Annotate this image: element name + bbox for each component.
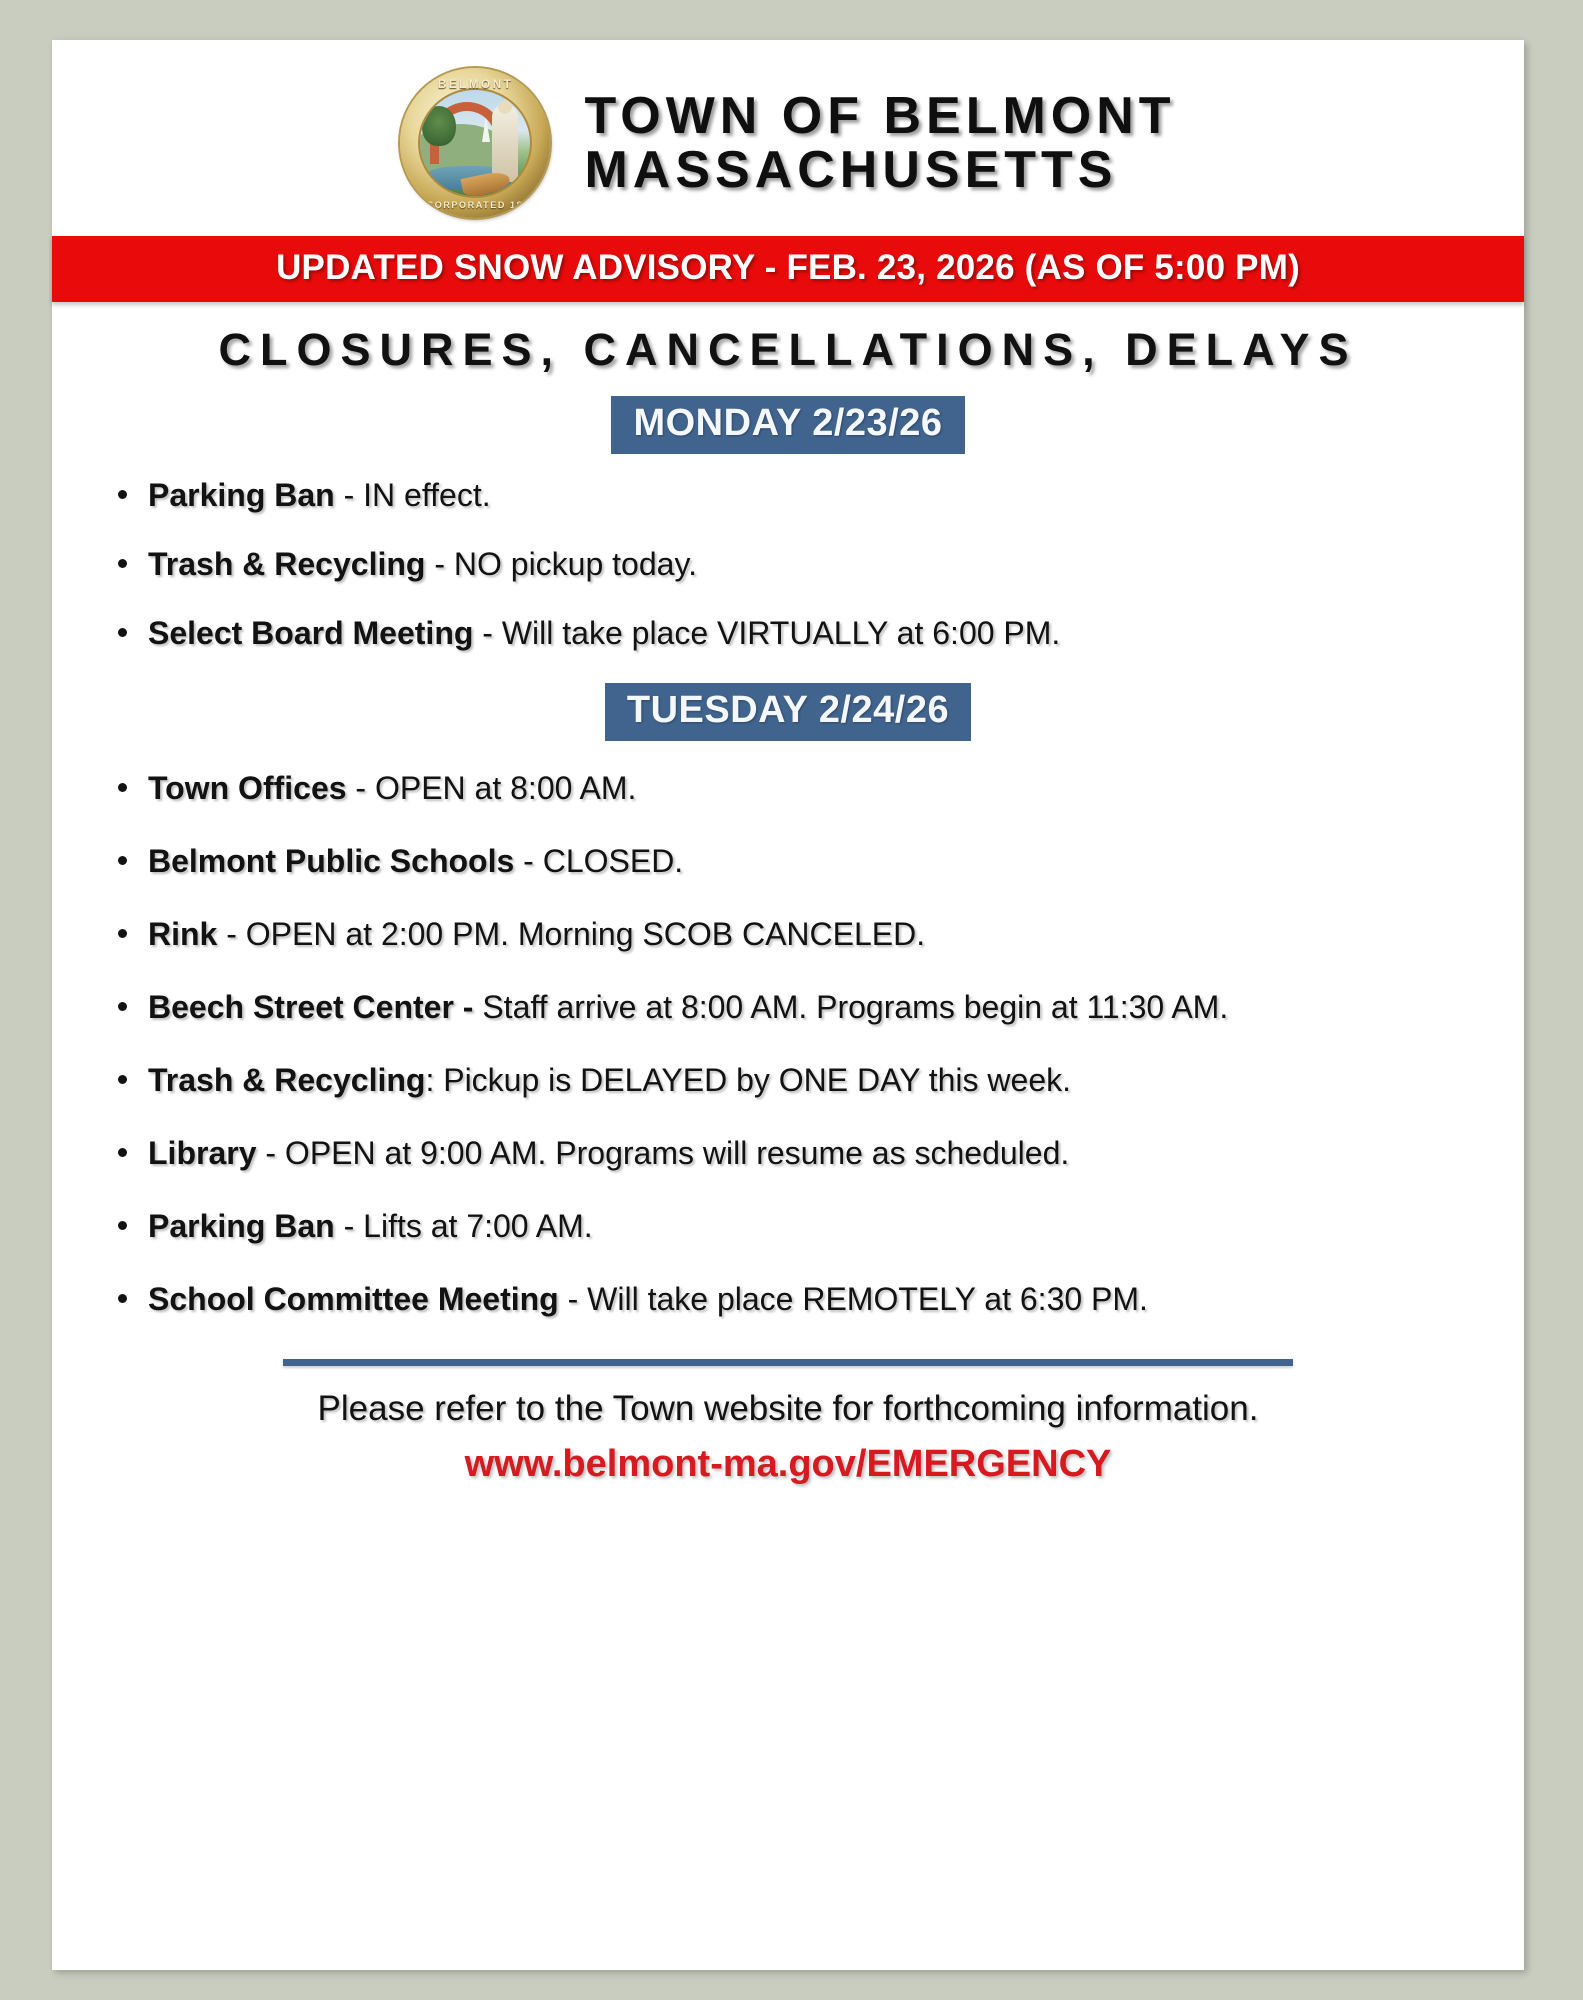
day-chip-tuesday: TUESDAY 2/24/26 (605, 683, 971, 741)
item-lead: Trash & Recycling (148, 1062, 425, 1098)
bullet-dot-icon (118, 628, 127, 637)
item-rest: - OPEN at 9:00 AM. Programs will resume … (256, 1135, 1069, 1171)
list-item: School Committee Meeting - Will take pla… (110, 1280, 1484, 1319)
monday-items-list: Parking Ban - IN effect. Trash & Recycli… (52, 470, 1524, 653)
item-rest: : Pickup is DELAYED by ONE DAY this week… (425, 1062, 1071, 1098)
item-rest: - NO pickup today. (425, 546, 697, 582)
advisory-banner-text: UPDATED SNOW ADVISORY - FEB. 23, 2026 (A… (276, 248, 1300, 287)
bullet-dot-icon (118, 490, 127, 499)
bullet-dot-icon (118, 783, 127, 792)
list-item: Parking Ban - Lifts at 7:00 AM. (110, 1207, 1484, 1246)
bullet-dot-icon (118, 856, 127, 865)
item-rest: - IN effect. (335, 477, 491, 513)
page-title: TOWN OF BELMONT MASSACHUSETTS (584, 89, 1175, 197)
bullet-dot-icon (118, 1148, 127, 1157)
item-rest: - Will take place VIRTUALLY at 6:00 PM. (473, 615, 1060, 651)
footer-note: Please refer to the Town website for for… (52, 1389, 1524, 1429)
list-item: Trash & Recycling - NO pickup today. (110, 545, 1484, 584)
footer-divider (283, 1359, 1293, 1366)
item-lead: Beech Street Center - (148, 989, 473, 1025)
advisory-banner: UPDATED SNOW ADVISORY - FEB. 23, 2026 (A… (52, 236, 1524, 302)
title-line-1: TOWN OF BELMONT (584, 89, 1175, 143)
item-lead: Select Board Meeting (148, 615, 473, 651)
item-lead: Town Offices (148, 770, 347, 806)
list-item: Trash & Recycling: Pickup is DELAYED by … (110, 1061, 1484, 1100)
item-lead: Library (148, 1135, 256, 1171)
item-lead: Parking Ban (148, 477, 335, 513)
bullet-dot-icon (118, 1294, 127, 1303)
item-lead: Rink (148, 916, 217, 952)
item-lead: Trash & Recycling (148, 546, 425, 582)
day-chip-monday: MONDAY 2/23/26 (611, 396, 964, 454)
list-item: Library - OPEN at 9:00 AM. Programs will… (110, 1134, 1484, 1173)
seal-ring-bottom-text: INCORPORATED 1859 (400, 200, 550, 210)
item-lead: Belmont Public Schools (148, 843, 514, 879)
list-item: Belmont Public Schools - CLOSED. (110, 842, 1484, 881)
item-rest: - OPEN at 8:00 AM. (347, 770, 637, 806)
title-line-2: MASSACHUSETTS (584, 143, 1175, 197)
list-item: Parking Ban - IN effect. (110, 476, 1484, 515)
footer-divider-wrap (52, 1353, 1524, 1371)
poster-page: BELMONT INCORPORATED 1859 TOWN OF BELMON… (0, 0, 1583, 2000)
list-item: Select Board Meeting - Will take place V… (110, 614, 1484, 653)
bullet-dot-icon (118, 559, 127, 568)
seal-tree (422, 106, 456, 146)
day-chip-row-tuesday: TUESDAY 2/24/26 (52, 683, 1524, 741)
seal-figure (492, 104, 518, 182)
item-lead: Parking Ban (148, 1208, 335, 1244)
item-rest: - Lifts at 7:00 AM. (335, 1208, 593, 1244)
poster-header: BELMONT INCORPORATED 1859 TOWN OF BELMON… (52, 40, 1524, 236)
bullet-dot-icon (118, 1221, 127, 1230)
day-chip-row-monday: MONDAY 2/23/26 (52, 396, 1524, 454)
seal-inner-scene (418, 88, 532, 198)
bullet-dot-icon (118, 929, 127, 938)
tuesday-items-list: Town Offices - OPEN at 8:00 AM. Belmont … (52, 757, 1524, 1319)
list-item: Rink - OPEN at 2:00 PM. Morning SCOB CAN… (110, 915, 1484, 954)
item-lead: School Committee Meeting (148, 1281, 559, 1317)
item-rest: - CLOSED. (514, 843, 683, 879)
town-seal-icon: BELMONT INCORPORATED 1859 (400, 68, 550, 218)
bullet-dot-icon (118, 1002, 127, 1011)
item-rest: - Will take place REMOTELY at 6:30 PM. (559, 1281, 1148, 1317)
list-item: Beech Street Center - Staff arrive at 8:… (110, 988, 1484, 1027)
item-rest: Staff arrive at 8:00 AM. Programs begin … (473, 989, 1228, 1025)
list-item: Town Offices - OPEN at 8:00 AM. (110, 769, 1484, 808)
emergency-website-link[interactable]: www.belmont-ma.gov/EMERGENCY (52, 1443, 1524, 1486)
section-title: CLOSURES, CANCELLATIONS, DELAYS (52, 302, 1524, 384)
seal-ring-top-text: BELMONT (400, 77, 550, 91)
poster-sheet: BELMONT INCORPORATED 1859 TOWN OF BELMON… (52, 40, 1524, 1970)
item-rest: - OPEN at 2:00 PM. Morning SCOB CANCELED… (217, 916, 925, 952)
bullet-dot-icon (118, 1075, 127, 1084)
